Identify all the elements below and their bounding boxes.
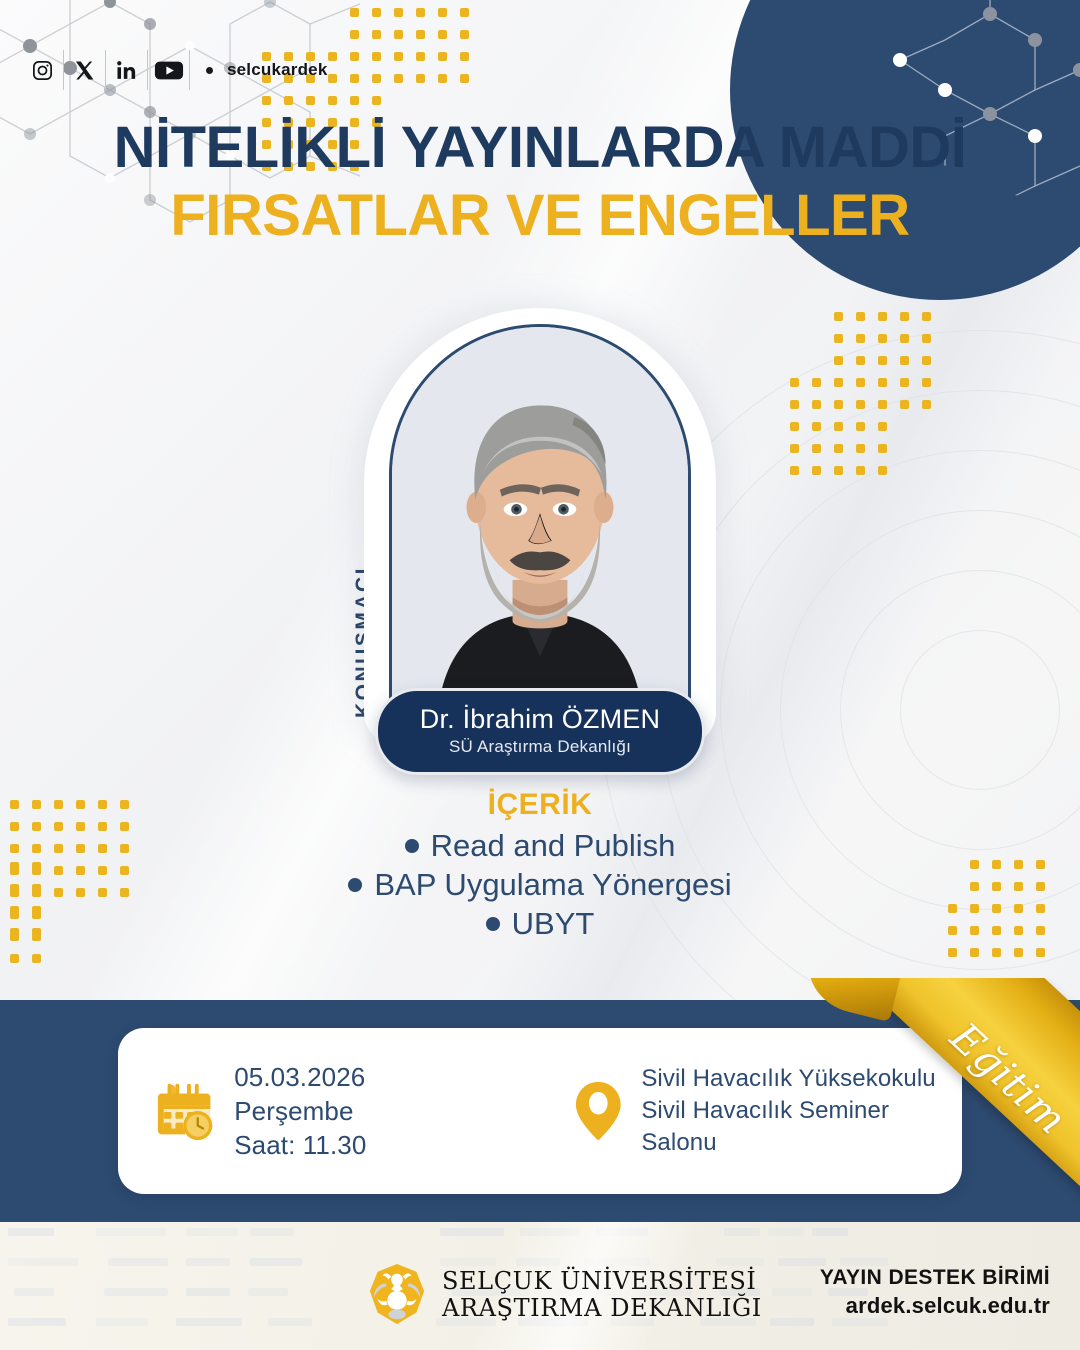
speaker-portrait-illustration xyxy=(392,327,688,719)
content-section: İÇERİK Read and Publish BAP Uygulama Yön… xyxy=(0,788,1080,943)
selcuk-university-eagle-emblem xyxy=(366,1262,428,1328)
event-date: 05.03.2026 Perşembe xyxy=(234,1060,485,1129)
university-name: SELÇUK ÜNİVERSİTESİ ARAŞTIRMA DEKANLIĞI xyxy=(442,1268,762,1323)
event-location-text: Sivil Havacılık Yüksekokulu Sivil Havacı… xyxy=(641,1063,962,1158)
instagram-icon[interactable] xyxy=(22,50,64,90)
event-datetime-text: 05.03.2026 Perşembe Saat: 11.30 xyxy=(234,1060,485,1163)
social-links[interactable]: selcukardek xyxy=(22,50,328,90)
location-venue: Sivil Havacılık Yüksekokulu xyxy=(641,1063,962,1095)
linkedin-icon[interactable] xyxy=(106,50,148,90)
speaker-section: KONUŞMACI xyxy=(0,300,1080,760)
speaker-role: SÜ Araştırma Dekanlığı xyxy=(396,737,684,757)
list-item: BAP Uygulama Yönergesi xyxy=(0,865,1080,904)
title-line-1: NİTELİKLİ YAYINLARDA MADDİ xyxy=(0,118,1080,178)
x-twitter-icon[interactable] xyxy=(64,50,106,90)
title-line-2: FIRSATLAR VE ENGELLER xyxy=(0,186,1080,246)
speaker-name-card: Dr. İbrahim ÖZMEN SÜ Araştırma Dekanlığı xyxy=(375,688,705,775)
content-item-label: UBYT xyxy=(512,904,595,943)
speaker-photo xyxy=(389,324,691,724)
location-room: Sivil Havacılık Seminer Salonu xyxy=(641,1095,962,1158)
poster-root: NİTELİKLİ YAYINLARDA MADDİ FIRSATLAR VE … xyxy=(0,0,1080,1350)
event-time: Saat: 11.30 xyxy=(234,1128,485,1162)
map-pin-icon xyxy=(573,1079,624,1143)
content-item-label: BAP Uygulama Yönergesi xyxy=(374,865,731,904)
event-location: Sivil Havacılık Yüksekokulu Sivil Havacı… xyxy=(485,1063,962,1158)
event-info-card: 05.03.2026 Perşembe Saat: 11.30 Sivil Ha… xyxy=(118,1028,962,1194)
event-datetime: 05.03.2026 Perşembe Saat: 11.30 xyxy=(118,1060,485,1163)
bullet-icon xyxy=(486,917,500,931)
calendar-clock-icon xyxy=(154,1079,216,1143)
content-item-label: Read and Publish xyxy=(431,826,676,865)
content-list: Read and Publish BAP Uygulama Yönergesi … xyxy=(0,826,1080,943)
bullet-icon xyxy=(348,878,362,892)
poster-title: NİTELİKLİ YAYINLARDA MADDİ FIRSATLAR VE … xyxy=(0,118,1080,247)
bullet-icon xyxy=(405,839,419,853)
content-heading: İÇERİK xyxy=(0,788,1080,822)
separator-dot-icon xyxy=(206,67,213,74)
youtube-icon[interactable] xyxy=(148,50,190,90)
speaker-name: Dr. İbrahim ÖZMEN xyxy=(396,704,684,735)
university-line-2: ARAŞTIRMA DEKANLIĞI xyxy=(442,1295,762,1322)
publication-support-unit: YAYIN DESTEK BİRİMİ ardek.selcuk.edu.tr xyxy=(820,1266,1050,1319)
list-item: Read and Publish xyxy=(0,826,1080,865)
list-item: UBYT xyxy=(0,904,1080,943)
unit-website[interactable]: ardek.selcuk.edu.tr xyxy=(820,1293,1050,1319)
university-line-1: SELÇUK ÜNİVERSİTESİ xyxy=(442,1268,762,1295)
social-handle[interactable]: selcukardek xyxy=(227,60,328,80)
university-logo: SELÇUK ÜNİVERSİTESİ ARAŞTIRMA DEKANLIĞI xyxy=(366,1262,762,1328)
unit-label: YAYIN DESTEK BİRİMİ xyxy=(820,1266,1050,1290)
